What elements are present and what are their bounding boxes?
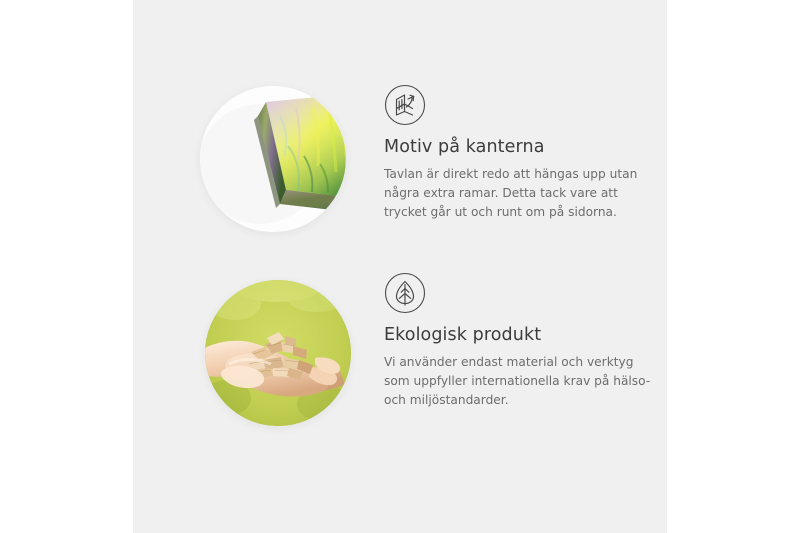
feature-text-column-2: Ekologisk produkt Vi använder endast mat… xyxy=(384,272,664,410)
feature-title-2: Ekologisk produkt xyxy=(384,325,664,346)
feature-text-column-1: Motiv på kanterna Tavlan är direkt redo … xyxy=(384,84,664,222)
content-panel xyxy=(133,0,667,533)
hands-holding-wood-chips-photo xyxy=(205,280,351,426)
leaf-icon xyxy=(384,272,426,314)
feature-body-2: Vi använder endast material och verktyg … xyxy=(384,353,656,410)
product-feature-panel: Motiv på kanterna Tavlan är direkt redo … xyxy=(0,0,800,533)
canvas-wrapped-edge-icon xyxy=(384,84,426,126)
feature-block-motiv-pa-kanterna: Motiv på kanterna Tavlan är direkt redo … xyxy=(133,84,667,249)
canvas-print-corner-photo xyxy=(200,86,346,232)
feature-block-ekologisk-produkt: Ekologisk produkt Vi använder endast mat… xyxy=(133,272,667,437)
feature-title-1: Motiv på kanterna xyxy=(384,137,664,158)
feature-body-1: Tavlan är direkt redo att hängas upp uta… xyxy=(384,165,656,222)
